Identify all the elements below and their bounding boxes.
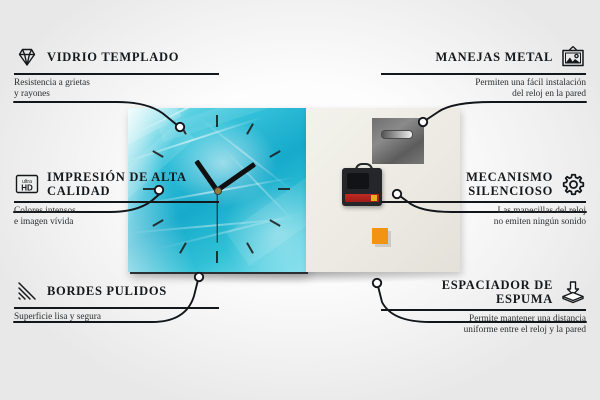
- metal-hanger-plate: [372, 118, 424, 164]
- feature-polished-edges: BORDES PULIDOS Superficie lisa y segura: [14, 278, 219, 323]
- clock-mechanism: [342, 168, 382, 206]
- feature-header: ultra HD IMPRESIÓN DE ALTA CALIDAD: [14, 170, 219, 198]
- feature-divider: [14, 307, 219, 309]
- clock-tick: [216, 115, 218, 127]
- feature-divider: [381, 201, 586, 203]
- feature-title: BORDES PULIDOS: [47, 284, 167, 298]
- product-infographic: VIDRIO TEMPLADO Resistencia a grietas y …: [0, 0, 600, 400]
- press-down-pad-icon: [560, 279, 586, 305]
- gear-icon: [560, 171, 586, 197]
- diamond-icon: [14, 44, 40, 70]
- feature-description: Colores intensos e imagen vívida: [14, 206, 219, 229]
- ultra-hd-icon: ultra HD: [14, 171, 40, 197]
- feature-header: MECANISMO SILENCIOSO: [381, 170, 586, 198]
- feature-title: IMPRESIÓN DE ALTA CALIDAD: [47, 170, 219, 198]
- feature-description: Las manecillas del reloj no emiten ningú…: [381, 206, 586, 229]
- feature-header: BORDES PULIDOS: [14, 278, 219, 304]
- feature-header: ESPACIADOR DE ESPUMA: [381, 278, 586, 306]
- feature-tempered-glass: VIDRIO TEMPLADO Resistencia a grietas y …: [14, 44, 219, 101]
- feature-title: MECANISMO SILENCIOSO: [381, 170, 553, 198]
- feature-hd-print: ultra HD IMPRESIÓN DE ALTA CALIDAD Color…: [14, 170, 219, 229]
- feature-title: ESPACIADOR DE ESPUMA: [381, 278, 553, 306]
- feature-header: VIDRIO TEMPLADO: [14, 44, 219, 70]
- clock-tick: [216, 251, 218, 263]
- feature-silent-mechanism: MECANISMO SILENCIOSO Las manecillas del …: [381, 170, 586, 229]
- feature-foam-spacer: ESPACIADOR DE ESPUMA Permite mantener un…: [381, 278, 586, 337]
- feature-title: MANEJAS METAL: [435, 50, 553, 64]
- clock-tick: [278, 188, 290, 190]
- feature-divider: [381, 73, 586, 75]
- hanging-frame-icon: [560, 44, 586, 70]
- feature-description: Resistencia a grietas y rayones: [14, 78, 219, 101]
- foam-spacer-pad: [372, 228, 388, 244]
- feature-description: Permite mantener una distancia uniforme …: [381, 314, 586, 337]
- polished-edge-icon: [14, 278, 40, 304]
- feature-description: Permiten una fácil instalación del reloj…: [381, 78, 586, 101]
- feature-header: MANEJAS METAL: [381, 44, 586, 70]
- mechanism-hook: [355, 163, 373, 172]
- feature-divider: [381, 309, 586, 311]
- feature-metal-handles: MANEJAS METAL Permiten una fácil instala…: [381, 44, 586, 101]
- hanger-slot: [381, 130, 413, 139]
- feature-divider: [14, 73, 219, 75]
- battery: [345, 194, 379, 202]
- mechanism-dial: [347, 173, 369, 189]
- svg-text:HD: HD: [21, 184, 33, 193]
- feature-description: Superficie lisa y segura: [14, 312, 219, 324]
- feature-divider: [14, 201, 219, 203]
- feature-title: VIDRIO TEMPLADO: [47, 50, 179, 64]
